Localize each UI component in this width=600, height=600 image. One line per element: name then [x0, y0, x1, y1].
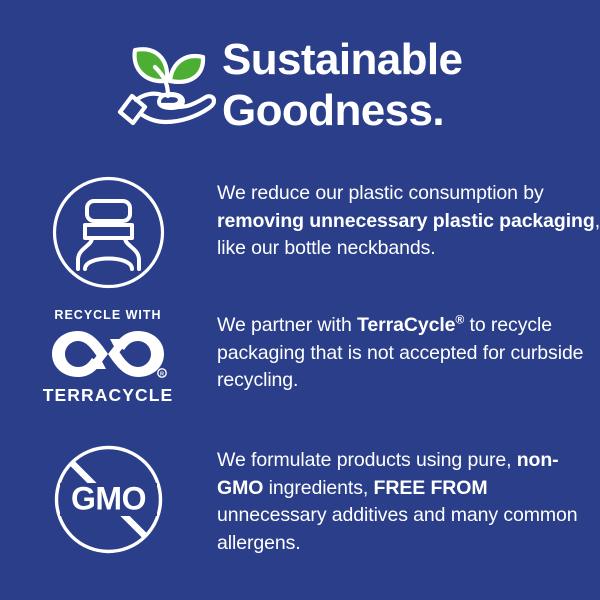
benefit-row-terracycle-text: We partner with TerraCycle® to recycle p… [170, 300, 600, 395]
page-title-line-2: Goodness. [222, 86, 462, 136]
page-title-line-1: Sustainable [222, 35, 462, 85]
benefit-row-plastic: We reduce our plastic consumption by rem… [0, 168, 600, 300]
benefit-rows: We reduce our plastic consumption by rem… [0, 168, 600, 570]
page-header: Sustainable Goodness. [0, 28, 600, 143]
registered-mark: ® [455, 313, 464, 327]
benefit-row-terracycle-icon-wrap: RECYCLE WITH R TERRACYCLE [46, 300, 170, 406]
benefit-row-terracycle: RECYCLE WITH R TERRACYCLE [0, 300, 600, 435]
benefit-row-gmo-icon-wrap: GMO [46, 435, 170, 556]
text-segment: We reduce our plastic consumption by [217, 182, 544, 204]
no-gmo-icon: GMO [52, 443, 165, 556]
text-segment: We formulate products using pure, [217, 449, 517, 471]
no-gmo-label: GMO [71, 481, 146, 517]
sustainability-infographic: Sustainable Goodness. [0, 0, 600, 600]
page-title: Sustainable Goodness. [222, 35, 462, 135]
terracycle-top-label: RECYCLE WITH [54, 308, 161, 322]
text-segment: unnecessary additives and many common al… [217, 504, 578, 554]
plastic-bottle-neckband-icon [52, 176, 165, 289]
text-segment-bold: TerraCycle [357, 314, 455, 336]
terracycle-logo: RECYCLE WITH R TERRACYCLE [46, 308, 170, 406]
text-segment: We partner with [217, 314, 357, 336]
svg-text:R: R [160, 372, 164, 378]
benefit-row-plastic-icon-wrap [46, 168, 170, 289]
benefit-row-gmo: GMO We formulate products using pure, no… [0, 435, 600, 570]
text-segment: ingredients, [263, 477, 373, 499]
hand-holding-sprout-icon [114, 34, 218, 138]
benefit-row-gmo-text: We formulate products using pure, non-GM… [170, 435, 600, 558]
benefit-row-plastic-text: We reduce our plastic consumption by rem… [170, 168, 600, 263]
infinity-arrows-icon: R [46, 325, 170, 383]
text-segment-bold: FREE FROM [374, 477, 488, 499]
terracycle-bottom-label: TERRACYCLE [43, 385, 174, 406]
text-segment-bold: removing unnecessary plastic packaging [217, 210, 595, 232]
